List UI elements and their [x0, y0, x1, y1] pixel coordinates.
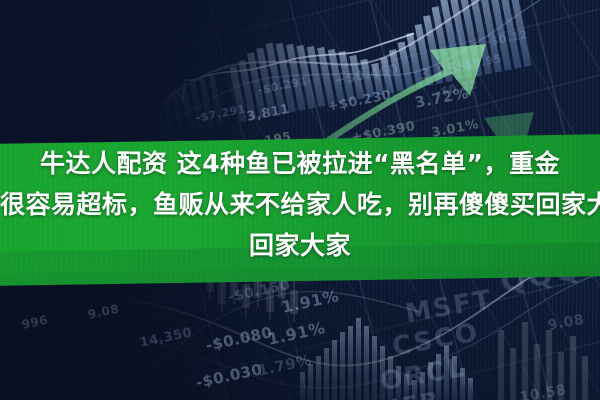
headline-line-2: 很容易超标，鱼贩从来不给家人吃，别再傻傻买回家大 — [0, 184, 600, 225]
banner-image: GENZQQQMSFTCSCOORCLSIEB +$0.4603.85%+$0.… — [0, 0, 600, 400]
headline-text: 牛达人配资 这4种鱼已被拉进“黑名单”，重金 很容易超标，鱼贩从来不给家人吃，别… — [0, 143, 600, 266]
headline-line-3: 回家大家 — [0, 225, 600, 266]
headline-line-1: 牛达人配资 这4种鱼已被拉进“黑名单”，重金 — [0, 143, 600, 184]
